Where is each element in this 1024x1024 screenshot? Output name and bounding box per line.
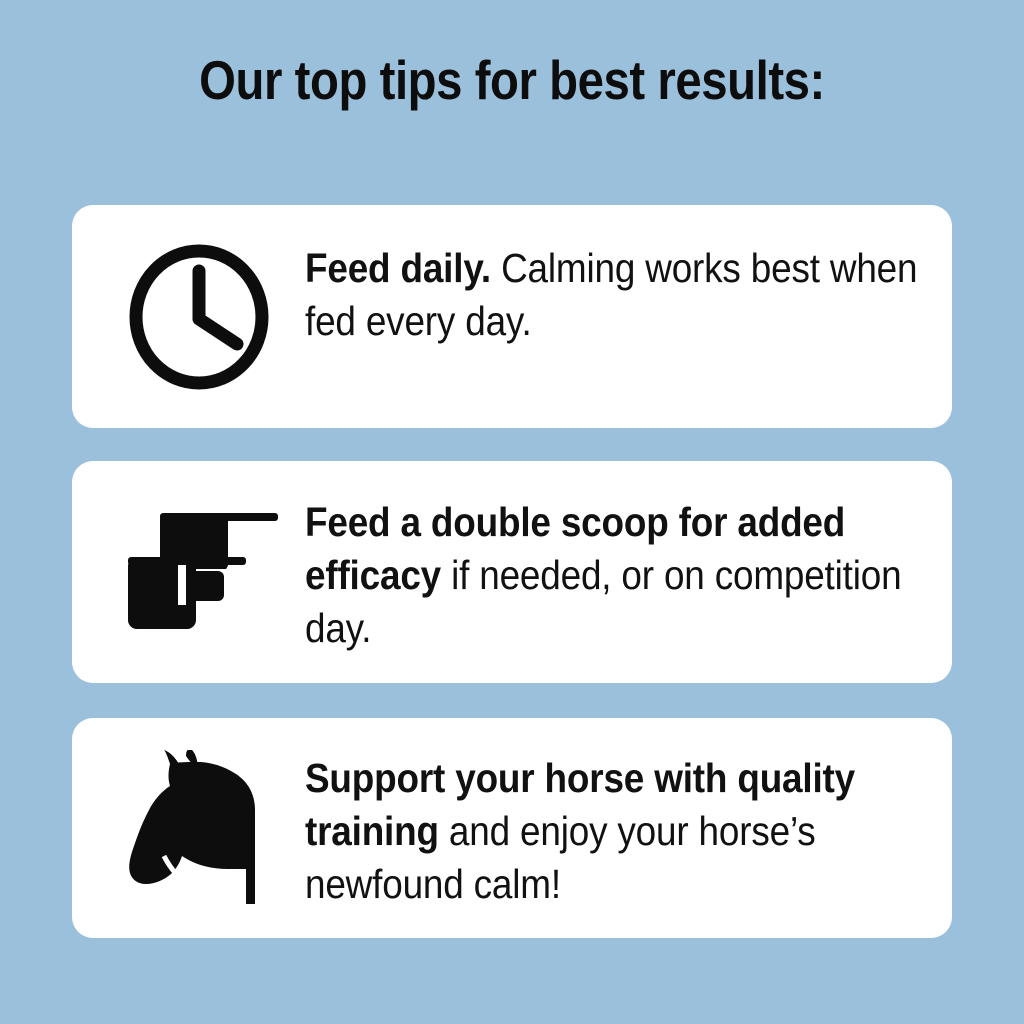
tip-card-feed-daily: Feed daily. Calming works best when fed …	[72, 205, 952, 428]
tip-text: Feed a double scoop for added efficacy i…	[305, 496, 935, 655]
tip-card-double-scoop: Feed a double scoop for added efficacy i…	[72, 461, 952, 683]
tip-card-quality-training: Support your horse with quality training…	[72, 718, 952, 938]
horse-head-icon	[108, 750, 278, 905]
tip-bold-text: Feed daily.	[305, 245, 491, 291]
tips-infographic: Our top tips for best results: Feed dail…	[0, 0, 1024, 1024]
page-title: Our top tips for best results:	[72, 48, 953, 112]
clock-icon	[120, 243, 278, 391]
tip-text: Support your horse with quality training…	[305, 752, 935, 911]
tip-text: Feed daily. Calming works best when fed …	[305, 242, 935, 348]
double-scoop-icon	[114, 499, 282, 639]
